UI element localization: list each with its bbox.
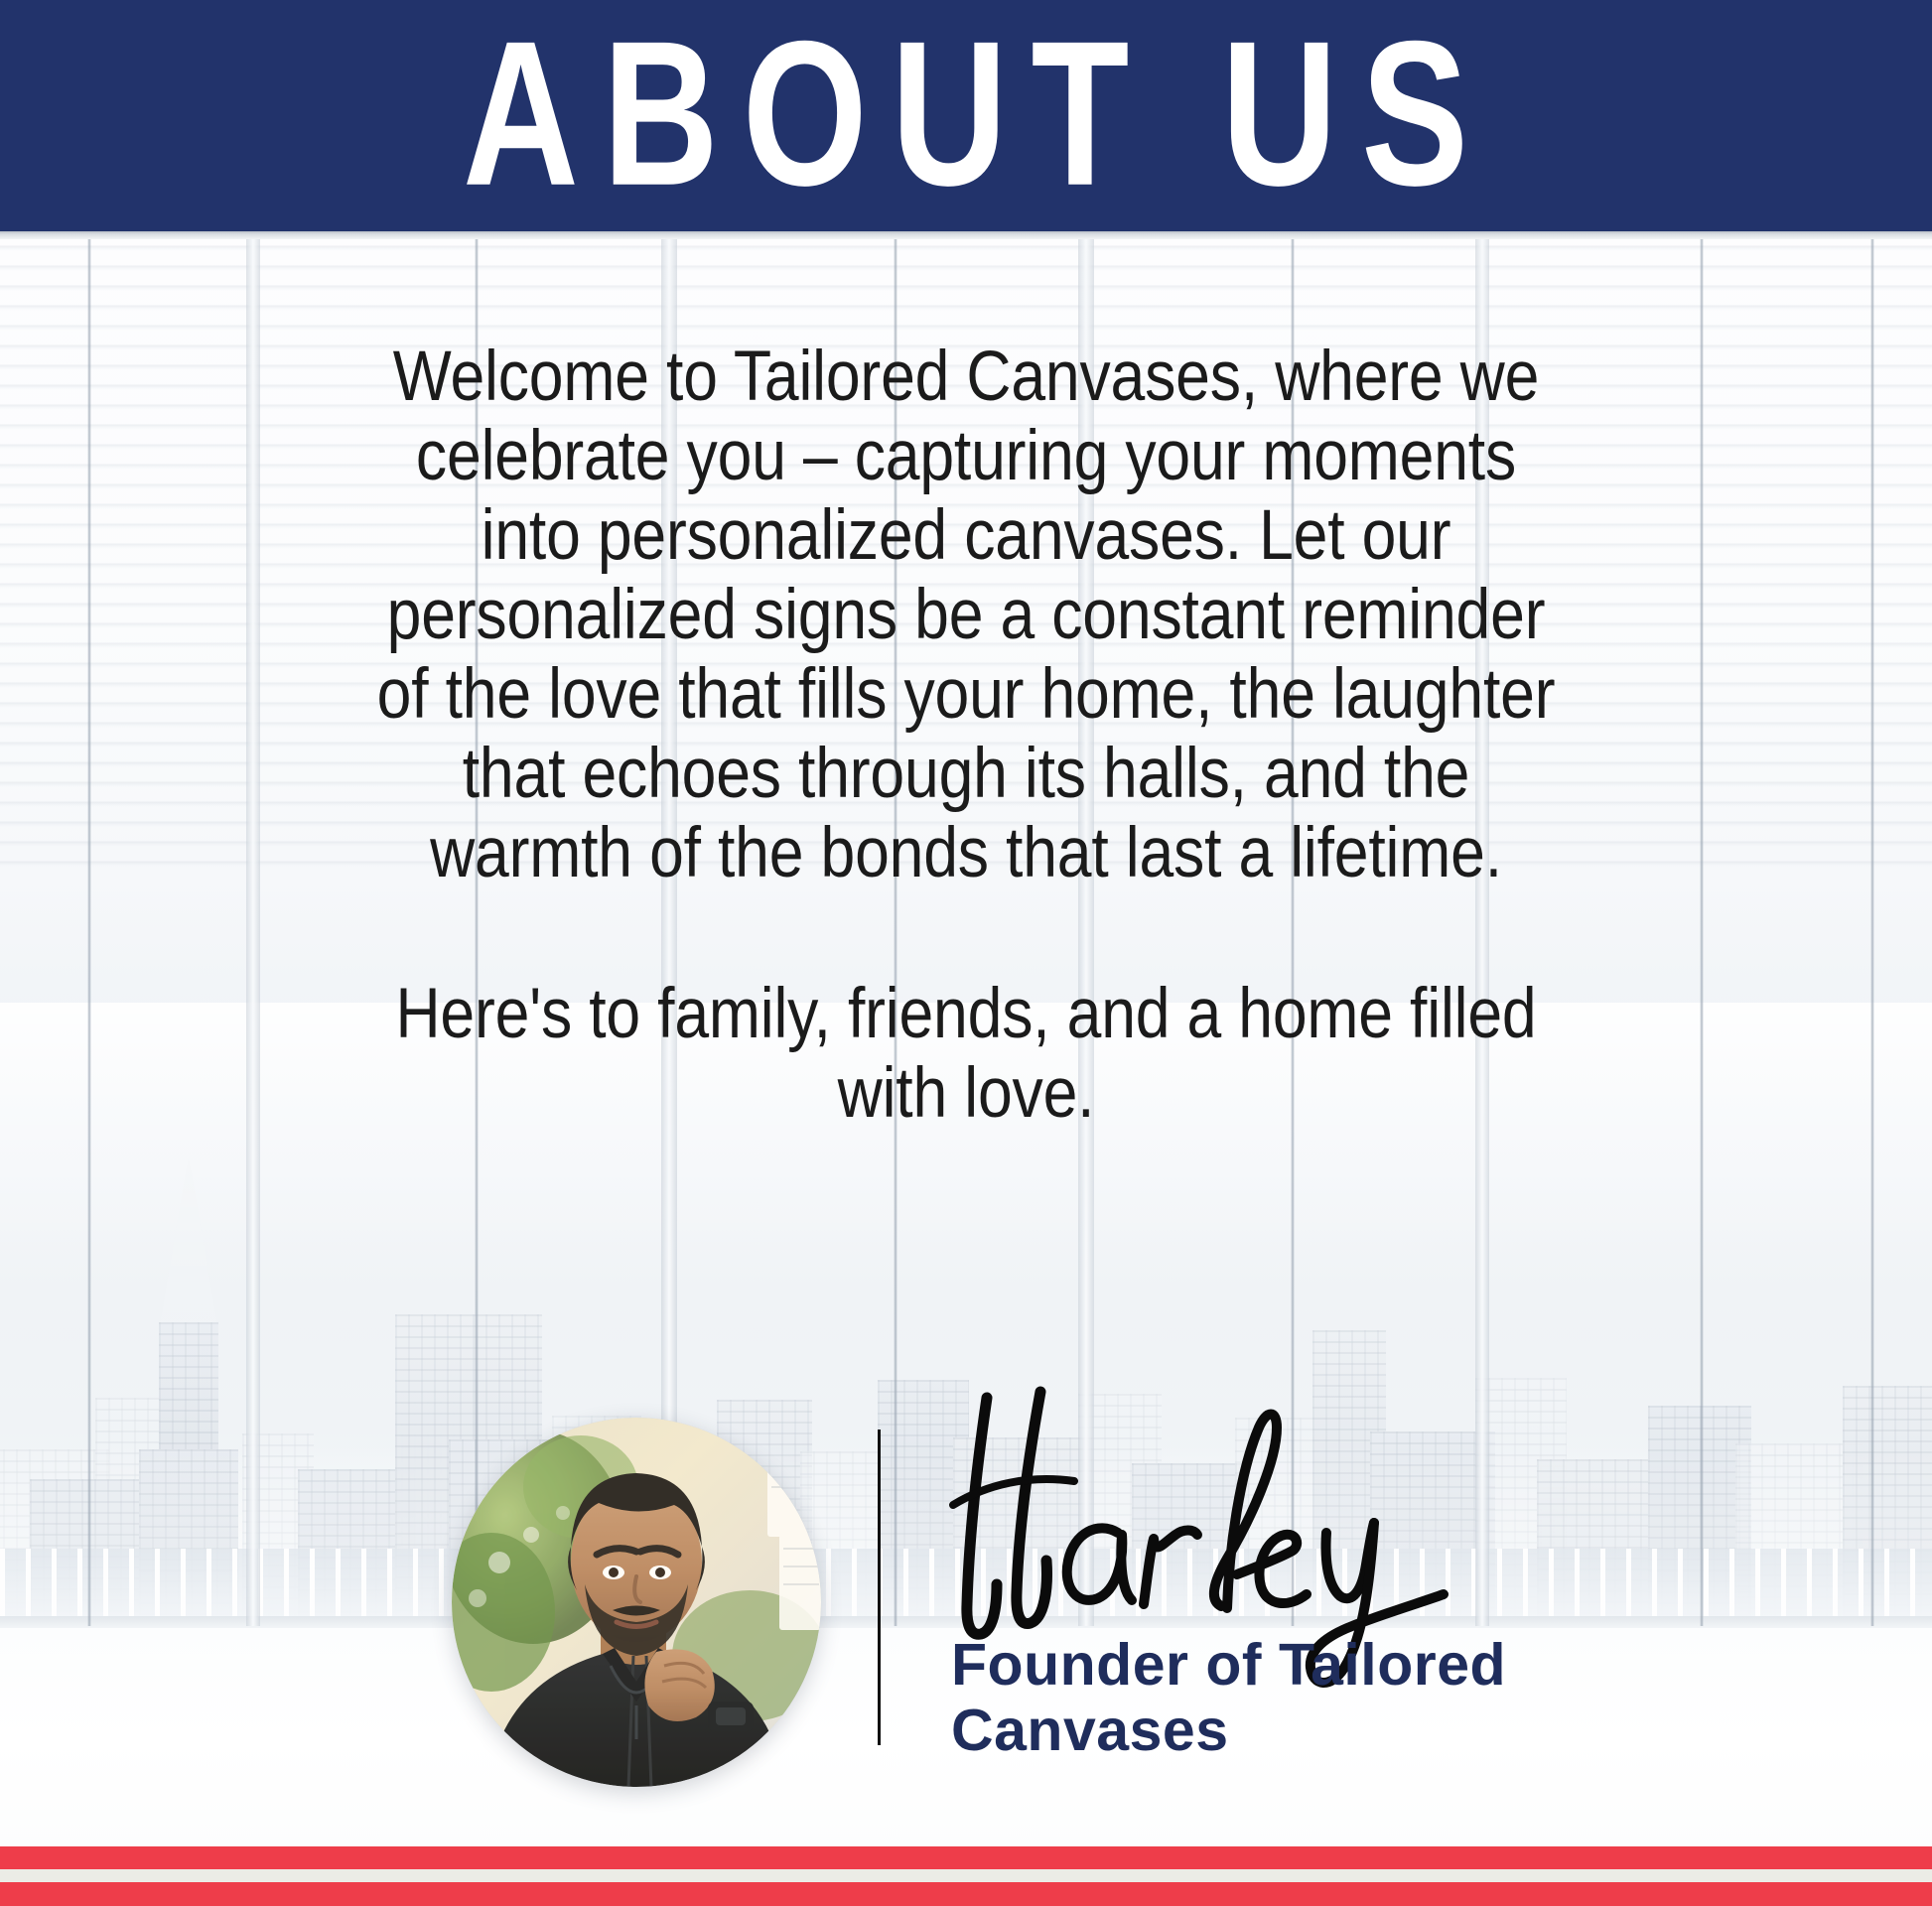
- footer-stripe-bottom: [0, 1882, 1932, 1906]
- paragraph-two-line-2: with love.: [291, 1054, 1641, 1134]
- about-us-copy: Welcome to Tailored Canvases, where we c…: [199, 338, 1733, 1134]
- header-divider: [0, 231, 1932, 239]
- paragraph-one-line-1: Welcome to Tailored Canvases, where we: [291, 338, 1641, 417]
- about-us-poster: ABOUT US Welcome to Tailored Canvases, w…: [0, 0, 1932, 1906]
- paragraph-one-line-4: personalized signs be a constant reminde…: [291, 576, 1641, 655]
- footer-stripe-top: [0, 1846, 1932, 1869]
- paragraph-two-line-1: Here's to family, friends, and a home fi…: [291, 975, 1641, 1054]
- page-title: ABOUT US: [440, 11, 1493, 217]
- avatar: [452, 1418, 821, 1787]
- paragraph-one-line-6: that echoes through its halls, and the: [291, 735, 1641, 814]
- founder-signature-block: Founder of Tailored Canvases: [0, 1390, 1932, 1827]
- founder-role: Founder of Tailored Canvases: [951, 1632, 1567, 1763]
- founder-role-line-2: Canvases: [951, 1698, 1567, 1763]
- paragraph-spacer: [199, 893, 1733, 975]
- paragraph-one-line-3: into personalized canvases. Let our: [291, 496, 1641, 576]
- paragraph-one-line-5: of the love that fills your home, the la…: [291, 655, 1641, 735]
- footer-stripe-gap: [0, 1869, 1932, 1882]
- page-header-banner: ABOUT US: [0, 0, 1932, 231]
- paragraph-one-line-2: celebrate you – capturing your moments: [291, 417, 1641, 496]
- signature-divider: [878, 1429, 881, 1745]
- paragraph-one-line-7: warmth of the bonds that last a lifetime…: [291, 814, 1641, 893]
- founder-role-line-1: Founder of Tailored: [951, 1632, 1567, 1698]
